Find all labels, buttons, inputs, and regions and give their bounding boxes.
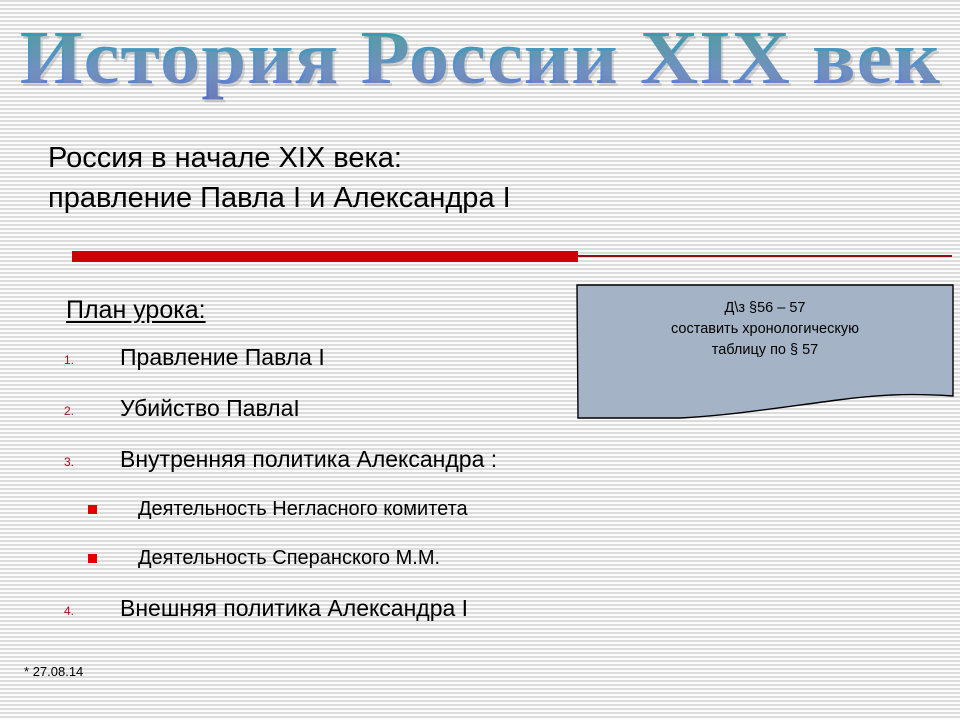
red-square-bullet-icon	[88, 554, 97, 563]
slide-canvas: История России XIX век Россия в начале X…	[0, 0, 960, 720]
plan-list: 1. Правление Павла I 2. Убийство ПавлаI …	[58, 340, 618, 642]
plan-heading: План урока:	[66, 294, 206, 326]
page-title: История России XIX век	[0, 8, 960, 108]
list-item-number: 4.	[64, 605, 90, 617]
list-item-label: Внутренняя политика Александра :	[120, 442, 618, 476]
sub-list-item: Деятельность Сперанского М.М.	[58, 542, 618, 574]
list-item-label: Правление Павла I	[120, 340, 618, 374]
list-item-number: 1.	[64, 354, 90, 366]
sub-list-item-label: Деятельность Сперанского М.М.	[138, 542, 618, 574]
sub-list-item-label: Деятельность Негласного комитета	[138, 493, 618, 525]
list-item: 1. Правление Павла I	[58, 340, 618, 374]
callout-line-3: таблицу по § 57	[576, 340, 954, 361]
list-item-label: Внешняя политика Александра I	[120, 591, 618, 625]
list-item: 3. Внутренняя политика Александра :	[58, 442, 618, 476]
divider-thick-bar	[72, 251, 578, 262]
list-item-number: 3.	[64, 456, 90, 468]
callout-line-1: Д\з §56 – 57	[576, 298, 954, 319]
list-item: 4. Внешняя политика Александра I	[58, 591, 618, 625]
subtitle-line-2: правление Павла I и Александра I	[48, 178, 748, 218]
subtitle-line-1: Россия в начале XIX века:	[48, 138, 748, 178]
red-square-bullet-icon	[88, 505, 97, 514]
list-item-number: 2.	[64, 405, 90, 417]
footer-star: *	[24, 664, 29, 679]
footer-date: * 27.08.14	[24, 663, 83, 681]
callout-text: Д\з §56 – 57 составить хронологическую т…	[576, 298, 954, 361]
sub-list-item: Деятельность Негласного комитета	[58, 493, 618, 525]
subtitle: Россия в начале XIX века: правление Павл…	[48, 138, 748, 218]
homework-callout: Д\з §56 – 57 составить хронологическую т…	[576, 284, 954, 424]
list-item: 2. Убийство ПавлаI	[58, 391, 618, 425]
list-item-label: Убийство ПавлаI	[120, 391, 618, 425]
callout-line-2: составить хронологическую	[576, 319, 954, 340]
wordart-title-text: История России XIX век	[20, 8, 941, 108]
footer-date-value: 27.08.14	[33, 664, 84, 679]
